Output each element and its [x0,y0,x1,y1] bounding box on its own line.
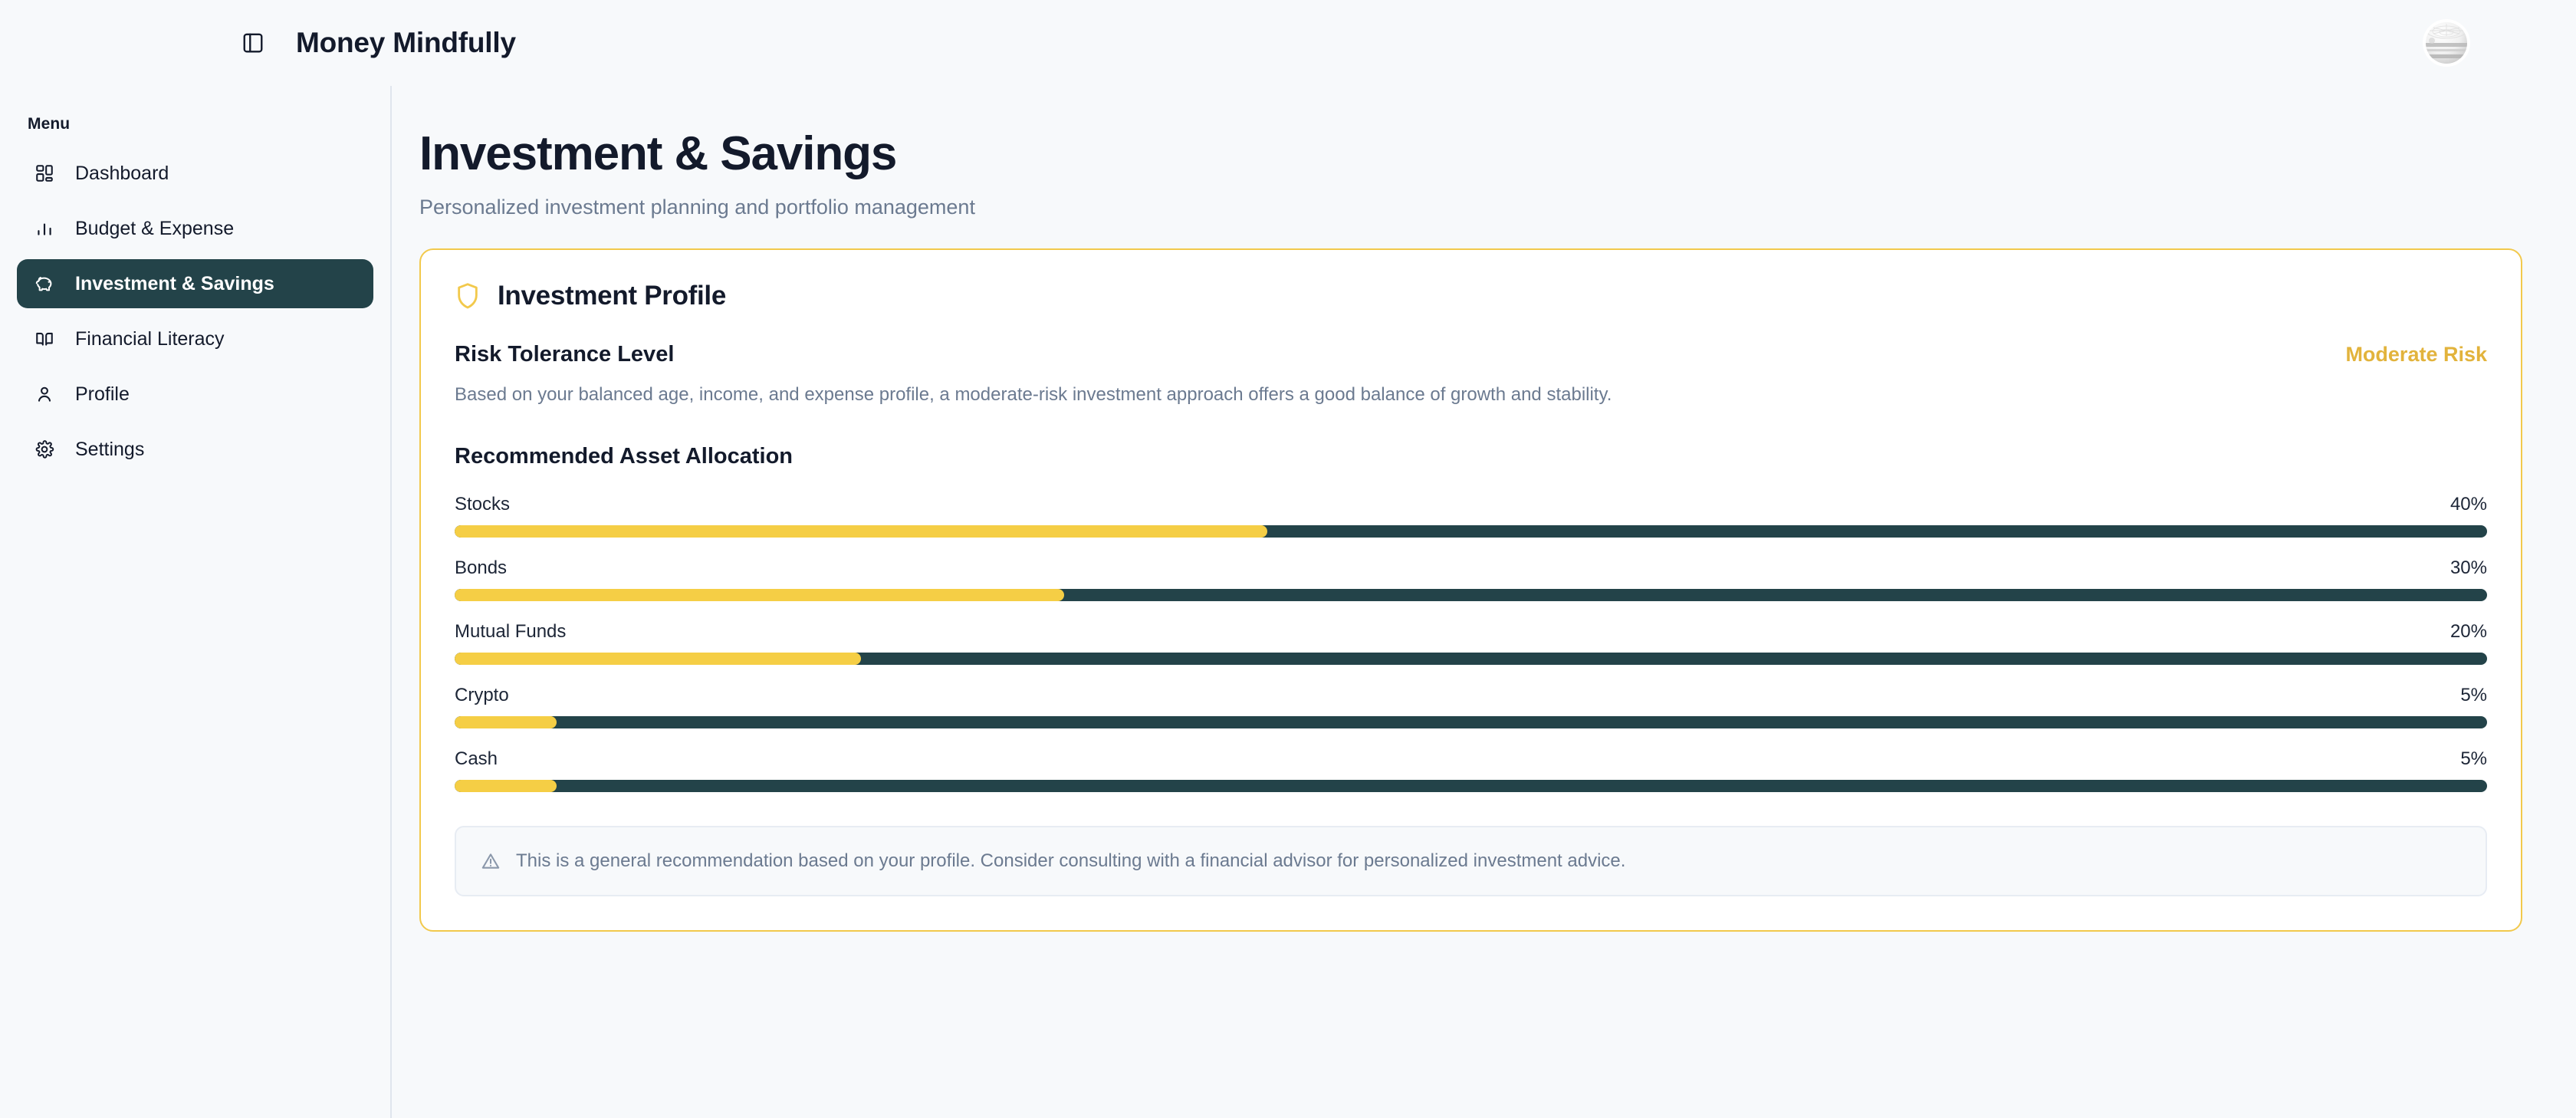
allocation-row: Crypto 5% [455,685,2487,728]
allocation-bar-track [455,589,2487,601]
top-bar-left: Money Mindfully [0,27,516,59]
sidebar-item-label: Profile [75,383,130,406]
allocation-bar-track [455,716,2487,728]
risk-tolerance-description: Based on your balanced age, income, and … [455,384,2487,406]
open-book-icon [32,327,57,351]
allocation-row: Bonds 30% [455,557,2487,601]
allocation-row-header: Cash 5% [455,748,2487,770]
main-content: Investment & Savings Personalized invest… [392,86,2576,1118]
allocation-label: Stocks [455,494,510,515]
sidebar: Menu Dashboard [0,86,392,1118]
top-bar-right [2423,19,2507,67]
bar-chart-icon [32,216,57,241]
allocation-row-header: Crypto 5% [455,685,2487,706]
sidebar-item-label: Dashboard [75,163,169,185]
sidebar-item-financial-literacy[interactable]: Financial Literacy [17,314,373,363]
allocation-bar-fill [455,716,557,728]
allocation-row: Cash 5% [455,748,2487,792]
risk-tolerance-row: Risk Tolerance Level Moderate Risk [455,342,2487,367]
allocation-percent: 40% [2450,494,2487,515]
avatar[interactable] [2423,19,2470,67]
allocation-label: Bonds [455,557,507,579]
user-icon [32,382,57,406]
gear-icon [32,437,57,462]
sidebar-toggle-icon[interactable] [238,28,268,58]
allocation-percent: 20% [2450,621,2487,643]
sidebar-item-investment-savings[interactable]: Investment & Savings [17,259,373,308]
sidebar-section-label: Menu [17,106,373,149]
allocation-row: Mutual Funds 20% [455,621,2487,665]
allocation-bar-fill [455,780,557,792]
shield-icon [455,281,481,311]
sidebar-item-dashboard[interactable]: Dashboard [17,149,373,198]
allocation-percent: 5% [2460,748,2487,770]
allocation-bar-fill [455,589,1064,601]
sidebar-item-label: Settings [75,439,144,461]
allocation-bar-track [455,780,2487,792]
sidebar-item-label: Financial Literacy [75,328,225,350]
sidebar-item-label: Budget & Expense [75,218,234,240]
allocation-row: Stocks 40% [455,494,2487,538]
sidebar-item-budget-expense[interactable]: Budget & Expense [17,204,373,253]
app-root: Money Mindfully [0,0,2576,1118]
sidebar-item-settings[interactable]: Settings [17,425,373,474]
allocation-label: Crypto [455,685,509,706]
allocation-row-header: Mutual Funds 20% [455,621,2487,643]
body-row: Menu Dashboard [0,86,2576,1118]
disclaimer-text: This is a general recommendation based o… [516,850,1625,872]
piggy-bank-icon [32,271,57,296]
top-bar: Money Mindfully [0,0,2576,86]
allocation-row-header: Stocks 40% [455,494,2487,515]
allocation-percent: 30% [2450,557,2487,579]
asset-allocation-list: Stocks 40% Bonds 30% [455,494,2487,792]
app-title: Money Mindfully [296,27,516,59]
card-title: Investment Profile [498,281,726,311]
disclaimer-box: This is a general recommendation based o… [455,826,2487,896]
allocation-bar-fill [455,525,1267,538]
card-header: Investment Profile [455,281,2487,311]
sidebar-item-label: Investment & Savings [75,273,274,295]
sidebar-item-profile[interactable]: Profile [17,370,373,419]
page-title: Investment & Savings [419,129,2522,179]
grid-icon [32,161,57,186]
risk-tolerance-heading: Risk Tolerance Level [455,342,674,367]
page-subtitle: Personalized investment planning and por… [419,196,2522,219]
allocation-bar-track [455,525,2487,538]
asset-allocation-heading: Recommended Asset Allocation [455,444,2487,469]
allocation-label: Mutual Funds [455,621,566,643]
allocation-label: Cash [455,748,498,770]
allocation-bar-fill [455,653,861,665]
warning-triangle-icon [481,851,501,871]
investment-profile-card: Investment Profile Risk Tolerance Level … [419,248,2522,932]
risk-level-badge: Moderate Risk [2345,343,2487,367]
allocation-percent: 5% [2460,685,2487,706]
allocation-row-header: Bonds 30% [455,557,2487,579]
allocation-bar-track [455,653,2487,665]
